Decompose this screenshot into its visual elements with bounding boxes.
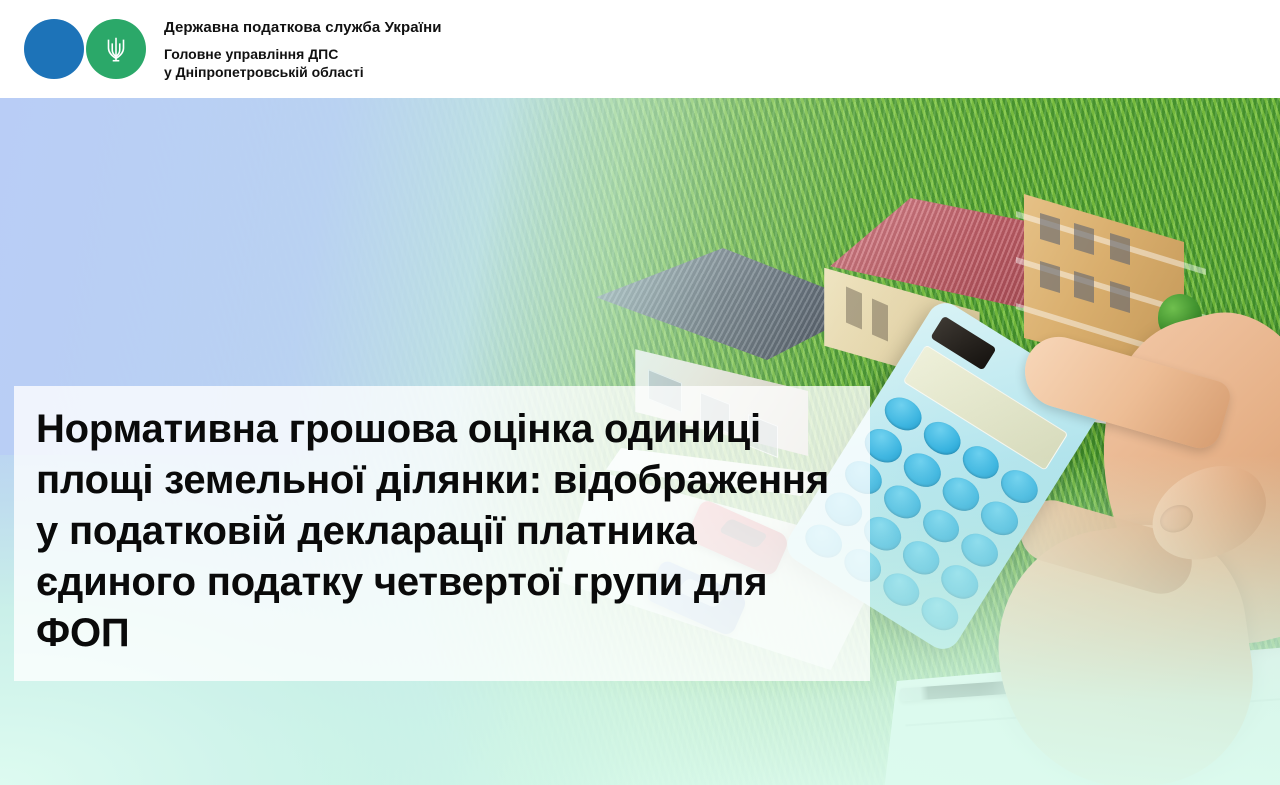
org-titles: Державна податкова служба України Головн… (164, 18, 442, 81)
ukraine-trident-icon (86, 19, 146, 79)
site-header: Державна податкова служба України Головн… (0, 0, 1280, 98)
dps-logo[interactable] (24, 19, 146, 79)
logo-blue-circle-icon (24, 19, 84, 79)
org-name-primary: Державна податкова служба України (164, 18, 442, 38)
hero-title-overlay: Нормативна грошова оцінка одиниці площі … (14, 386, 870, 681)
page-root: Державна податкова служба України Головн… (0, 0, 1280, 785)
org-name-secondary: Головне управління ДПС (164, 45, 442, 63)
hero-banner: Нормативна грошова оцінка одиниці площі … (0, 98, 1280, 785)
page-title: Нормативна грошова оцінка одиниці площі … (36, 404, 850, 659)
org-name-region: у Дніпропетровській області (164, 63, 442, 81)
